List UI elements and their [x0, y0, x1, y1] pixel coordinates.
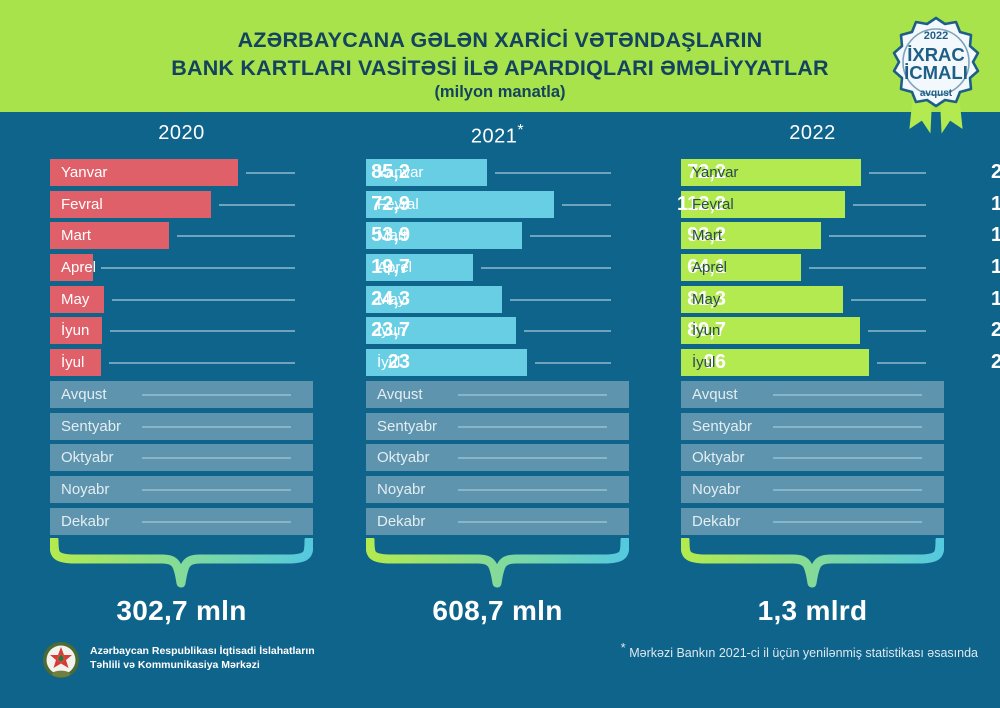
bar-row: Aprel19,7 [50, 254, 313, 281]
bar-row: Sentyabr [366, 413, 629, 440]
bar-row: İyun23,7 [50, 317, 313, 344]
badge-line2-text: İCMALI [904, 62, 968, 83]
month-label: Mart [692, 222, 722, 249]
year-header-label: 2020 [158, 122, 205, 144]
value-label: 136,6 [946, 254, 1000, 281]
page-title-line-1: AZƏRBAYCANA GƏLƏN XARİCİ VƏTƏNDAŞLARIN [0, 26, 1000, 54]
column-total-2022: 1,3 mlrd [663, 595, 963, 627]
bar-row: Noyabr [50, 476, 313, 503]
month-label: Yanvar [61, 159, 107, 186]
page-title-line-2: BANK KARTLARI VASİTƏSİ İLƏ APARDIQLARI Ə… [0, 54, 1000, 82]
bar-row: Mart53,9 [50, 222, 313, 249]
month-label: Aprel [692, 254, 727, 281]
leader-line [524, 330, 611, 332]
month-label: Oktyabr [692, 444, 745, 471]
leader-line [142, 457, 291, 459]
month-label: Sentyabr [61, 413, 121, 440]
month-label: İyul [61, 349, 84, 376]
footnote: * Mərkəzi Bankın 2021-ci il üçün yenilən… [621, 640, 978, 660]
leader-line [773, 521, 922, 523]
month-label: Noyabr [692, 476, 740, 503]
leader-line [142, 521, 291, 523]
year-header-asterisk: * [517, 122, 524, 139]
year-header-2020: 2020 [82, 122, 282, 145]
month-label: İyun [692, 317, 720, 344]
month-label: İyul [692, 349, 715, 376]
leader-line [177, 235, 295, 237]
bar-row: Noyabr [681, 476, 944, 503]
bar-row: Yanvar72,2 [366, 159, 629, 186]
bar-row: Oktyabr [50, 444, 313, 471]
leader-line [458, 426, 607, 428]
column-total-2021: 608,7 mln [348, 595, 648, 627]
leader-line [142, 426, 291, 428]
leader-line [142, 489, 291, 491]
column-2020: Yanvar85,2Fevral72,9Mart53,9Aprel19,7May… [50, 159, 313, 539]
month-label: Fevral [377, 191, 419, 218]
bar-row: Dekabr [681, 508, 944, 535]
azerbaijan-emblem-icon [42, 641, 80, 679]
badge-year-text: 2022 [924, 30, 948, 42]
month-label: Aprel [61, 254, 96, 281]
bar-row: Yanvar85,2 [50, 159, 313, 186]
bar-row: Mart158,5 [681, 222, 944, 249]
month-label: Fevral [692, 191, 734, 218]
leader-line [868, 330, 926, 332]
month-label: Oktyabr [61, 444, 114, 471]
leader-line [101, 267, 295, 269]
bar-row: Fevral186,5 [681, 191, 944, 218]
bar-row: Dekabr [366, 508, 629, 535]
bar-row: Fevral112,2 [366, 191, 629, 218]
month-label: İyul [377, 349, 400, 376]
month-label: Noyabr [61, 476, 109, 503]
month-label: Dekabr [61, 508, 109, 535]
leader-line [535, 362, 611, 364]
month-label: Avqust [61, 381, 107, 408]
column-total-2020: 302,7 mln [32, 595, 332, 627]
leader-line [773, 457, 922, 459]
leader-line [495, 172, 611, 174]
badge-month-text: avqust [920, 88, 953, 99]
leader-line [869, 172, 926, 174]
summary-brace [366, 538, 629, 588]
bar-row: Avqust [366, 381, 629, 408]
month-label: Mart [61, 222, 91, 249]
leader-line [481, 267, 611, 269]
month-label: İyun [377, 317, 405, 344]
bar-row: Noyabr [366, 476, 629, 503]
month-label: Avqust [692, 381, 738, 408]
month-label: May [61, 286, 89, 313]
page-subtitle: (milyon manatla) [0, 83, 1000, 102]
footnote-text: Mərkəzi Bankın 2021-ci il üçün yenilənmi… [629, 646, 978, 660]
footnote-asterisk: * [621, 640, 626, 655]
leader-line [877, 362, 926, 364]
organization-name-line-1: Azərbaycan Respublikası İqtisadi İslahat… [90, 644, 315, 658]
year-header-2022: 2022 [713, 122, 913, 145]
leader-line [458, 489, 607, 491]
summary-brace [50, 538, 313, 588]
bar-row: May24,3 [50, 286, 313, 313]
page-title: AZƏRBAYCANA GƏLƏN XARİCİ VƏTƏNDAŞLARIN B… [0, 26, 1000, 82]
month-label: İyun [61, 317, 89, 344]
leader-line [219, 204, 295, 206]
bar-row: Aprel64,1 [366, 254, 629, 281]
leader-line [458, 521, 607, 523]
bar-row: Sentyabr [681, 413, 944, 440]
bar-row: Oktyabr [681, 444, 944, 471]
leader-line [109, 362, 295, 364]
leader-line [458, 457, 607, 459]
bar-row: Dekabr [50, 508, 313, 535]
year-header-label: 2022 [789, 122, 836, 144]
summary-brace [681, 538, 944, 588]
leader-line [829, 235, 926, 237]
bar-row: Yanvar204,7 [681, 159, 944, 186]
value-label: 203,6 [946, 317, 1000, 344]
bar-row: Sentyabr [50, 413, 313, 440]
leader-line [773, 489, 922, 491]
value-label: 158,5 [946, 222, 1000, 249]
leader-line [112, 299, 295, 301]
bar-row: İyul23 [50, 349, 313, 376]
ixrac-icmali-badge: 2022 İXRAC İCMALI avqust [880, 4, 992, 136]
month-label: Dekabr [692, 508, 740, 535]
leader-line [773, 394, 922, 396]
leader-line [142, 394, 291, 396]
organization-logo: Azərbaycan Respublikası İqtisadi İslahat… [42, 641, 462, 683]
value-label: 184,1 [946, 286, 1000, 313]
leader-line [110, 330, 295, 332]
leader-line [851, 299, 926, 301]
value-label: 204,7 [946, 159, 1000, 186]
month-label: Aprel [377, 254, 412, 281]
bar-row: Fevral72,9 [50, 191, 313, 218]
leader-line [530, 235, 611, 237]
leader-line [853, 204, 926, 206]
month-label: May [377, 286, 405, 313]
leader-line [510, 299, 611, 301]
month-label: May [692, 286, 720, 313]
value-label: 213,6 [946, 349, 1000, 376]
leader-line [458, 394, 607, 396]
leader-line [773, 426, 922, 428]
month-label: Dekabr [377, 508, 425, 535]
year-header-label: 2021 [471, 126, 518, 148]
value-label: 186,5 [946, 191, 1000, 218]
organization-name: Azərbaycan Respublikası İqtisadi İslahat… [90, 644, 315, 672]
month-label: Oktyabr [377, 444, 430, 471]
bar-row: Oktyabr [366, 444, 629, 471]
year-header-2021: 2021* [398, 122, 598, 149]
bar-row: Aprel136,6 [681, 254, 944, 281]
leader-line [246, 172, 295, 174]
bar-row: Avqust [681, 381, 944, 408]
month-label: Yanvar [377, 159, 423, 186]
month-label: Yanvar [692, 159, 738, 186]
bar-row: Avqust [50, 381, 313, 408]
organization-name-line-2: Təhlili və Kommunikasiya Mərkəzi [90, 658, 315, 672]
month-label: Sentyabr [692, 413, 752, 440]
month-label: Sentyabr [377, 413, 437, 440]
month-label: Mart [377, 222, 407, 249]
leader-line [562, 204, 611, 206]
leader-line [809, 267, 926, 269]
bar-row: Mart93,2 [366, 222, 629, 249]
month-label: Avqust [377, 381, 423, 408]
month-label: Fevral [61, 191, 103, 218]
month-label: Noyabr [377, 476, 425, 503]
